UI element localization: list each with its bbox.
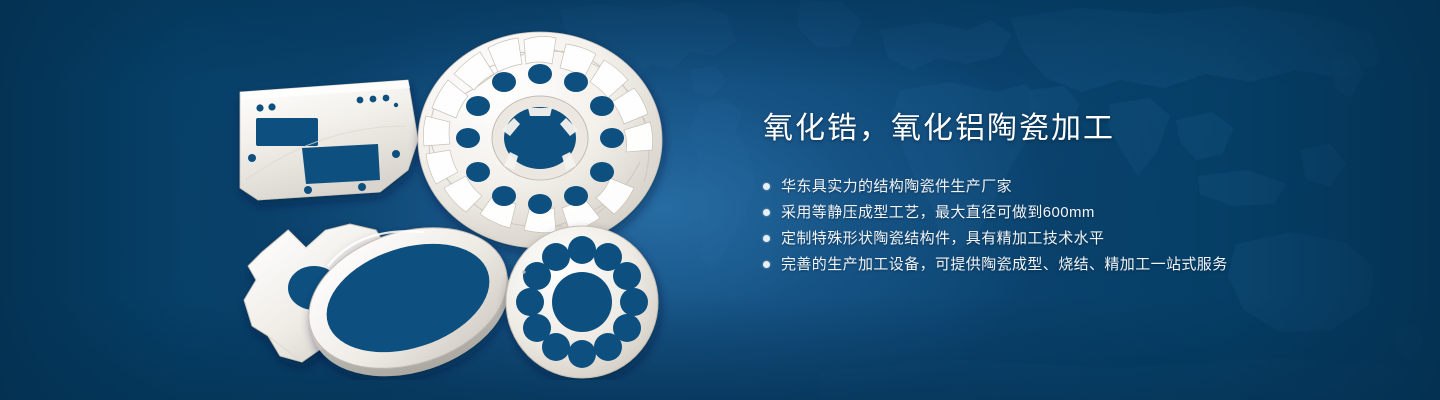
bullet-dot-icon (763, 209, 770, 216)
banner-headline: 氧化锆，氧化铝陶瓷加工 (763, 108, 1363, 150)
product-images (210, 30, 730, 380)
feature-text: 完善的生产加工设备，可提供陶瓷成型、烧结、精加工一站式服务 (781, 254, 1228, 275)
product-ceramic-plate (240, 80, 418, 200)
feature-text: 华东具实力的结构陶瓷件生产厂家 (781, 176, 1012, 197)
feature-item-1: 华东具实力的结构陶瓷件生产厂家 (763, 176, 1363, 197)
banner-copy: 氧化锆，氧化铝陶瓷加工 华东具实力的结构陶瓷件生产厂家 采用等静压成型工艺，最大… (763, 108, 1363, 280)
bullet-dot-icon (763, 261, 770, 268)
feature-item-4: 完善的生产加工设备，可提供陶瓷成型、烧结、精加工一站式服务 (763, 254, 1363, 275)
hero-banner: 氧化锆，氧化铝陶瓷加工 华东具实力的结构陶瓷件生产厂家 采用等静压成型工艺，最大… (0, 0, 1440, 400)
feature-text: 采用等静压成型工艺，最大直径可做到600mm (781, 202, 1095, 223)
feature-item-3: 定制特殊形状陶瓷结构件，具有精加工技术水平 (763, 228, 1363, 249)
feature-item-2: 采用等静压成型工艺，最大直径可做到600mm (763, 202, 1363, 223)
feature-list: 华东具实力的结构陶瓷件生产厂家 采用等静压成型工艺，最大直径可做到600mm 定… (763, 176, 1363, 275)
feature-text: 定制特殊形状陶瓷结构件，具有精加工技术水平 (781, 228, 1104, 249)
product-ceramic-hole-disc (506, 226, 658, 378)
bullet-dot-icon (763, 183, 770, 190)
product-ceramic-impeller (418, 32, 662, 248)
bullet-dot-icon (763, 235, 770, 242)
